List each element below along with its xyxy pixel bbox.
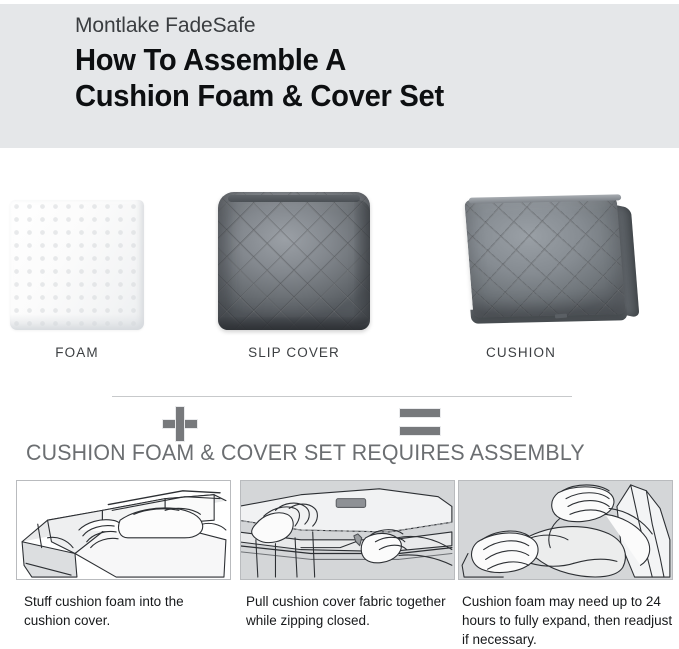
quilted-slip-cover-icon [218, 192, 370, 330]
header-text-block: Montlake FadeSafe How To Assemble A Cush… [75, 12, 669, 113]
equation-label-foam: FOAM [0, 345, 177, 360]
assembly-step-2-panel [240, 480, 455, 580]
page-title-line-1: How To Assemble A [75, 43, 633, 77]
assembly-step-3-panel [458, 480, 673, 580]
assembly-section-heading: CUSHION FOAM & COVER SET REQUIRES ASSEMB… [26, 440, 585, 466]
slip-cover-side-shading [354, 200, 370, 324]
equals-top-bar [399, 408, 441, 418]
cushion-care-tag [555, 314, 567, 319]
foam-block-icon [10, 200, 144, 330]
plus-vertical-bar [175, 406, 185, 442]
section-divider [112, 396, 572, 397]
cushion-quilted-face [464, 196, 625, 317]
hands-zipping-cover-illustration [241, 481, 454, 579]
quilted-cushion-icon [455, 188, 670, 333]
slip-cover-bottom-edge [218, 317, 370, 330]
equation-label-cushion: CUSHION [421, 345, 621, 360]
hands-stuffing-foam-illustration [17, 481, 230, 579]
assembly-step-2-caption: Pull cushion cover fabric together while… [246, 592, 461, 630]
hands-adjusting-cushion-illustration [459, 481, 672, 579]
assembly-step-3-caption: Cushion foam may need up to 24 hours to … [462, 592, 674, 649]
assembly-step-1-panel [16, 480, 231, 580]
slip-cover-zipper [228, 195, 360, 202]
assembly-step-panels [0, 480, 679, 582]
page-title-line-2: Cushion Foam & Cover Set [75, 79, 633, 113]
assembly-step-1-caption: Stuff cushion foam into the cushion cove… [24, 592, 229, 630]
header-banner: Montlake FadeSafe How To Assemble A Cush… [0, 4, 679, 148]
equals-operator-icon [399, 408, 443, 442]
product-equation-row: FOAM SLIP COVER CUSHION [0, 160, 679, 365]
equals-bottom-bar [399, 426, 441, 436]
brand-name: Montlake FadeSafe [75, 12, 669, 40]
equation-label-slip-cover: SLIP COVER [194, 345, 394, 360]
